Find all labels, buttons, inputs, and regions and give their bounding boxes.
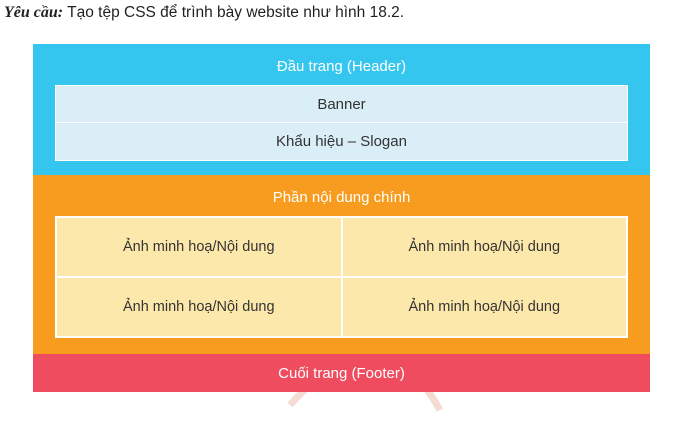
content-cell: Ảnh minh hoạ/Nội dung (342, 277, 628, 337)
footer-band: Cuối trang (Footer) (33, 354, 650, 392)
prompt-body: Tạo tệp CSS để trình bày website như hìn… (63, 4, 404, 21)
website-layout-diagram: Đầu trang (Header) Banner Khẩu hiệu – Sl… (33, 44, 650, 424)
main-content-band: Phần nội dung chính Ảnh minh hoạ/Nội dun… (33, 175, 650, 354)
content-cell: Ảnh minh hoạ/Nội dung (342, 217, 628, 277)
content-cell: Ảnh minh hoạ/Nội dung (56, 277, 342, 337)
main-content-grid: Ảnh minh hoạ/Nội dung Ảnh minh hoạ/Nội d… (55, 216, 628, 338)
header-band-title: Đầu trang (Header) (55, 54, 628, 85)
banner-box: Banner (55, 85, 628, 123)
main-band-title: Phần nội dung chính (55, 185, 628, 216)
slogan-box: Khẩu hiệu – Slogan (55, 123, 628, 161)
content-cell: Ảnh minh hoạ/Nội dung (56, 217, 342, 277)
prompt-text: Yêu cầu: Tạo tệp CSS để trình bày websit… (4, 4, 404, 22)
header-band: Đầu trang (Header) Banner Khẩu hiệu – Sl… (33, 44, 650, 175)
prompt-label: Yêu cầu: (4, 4, 63, 21)
